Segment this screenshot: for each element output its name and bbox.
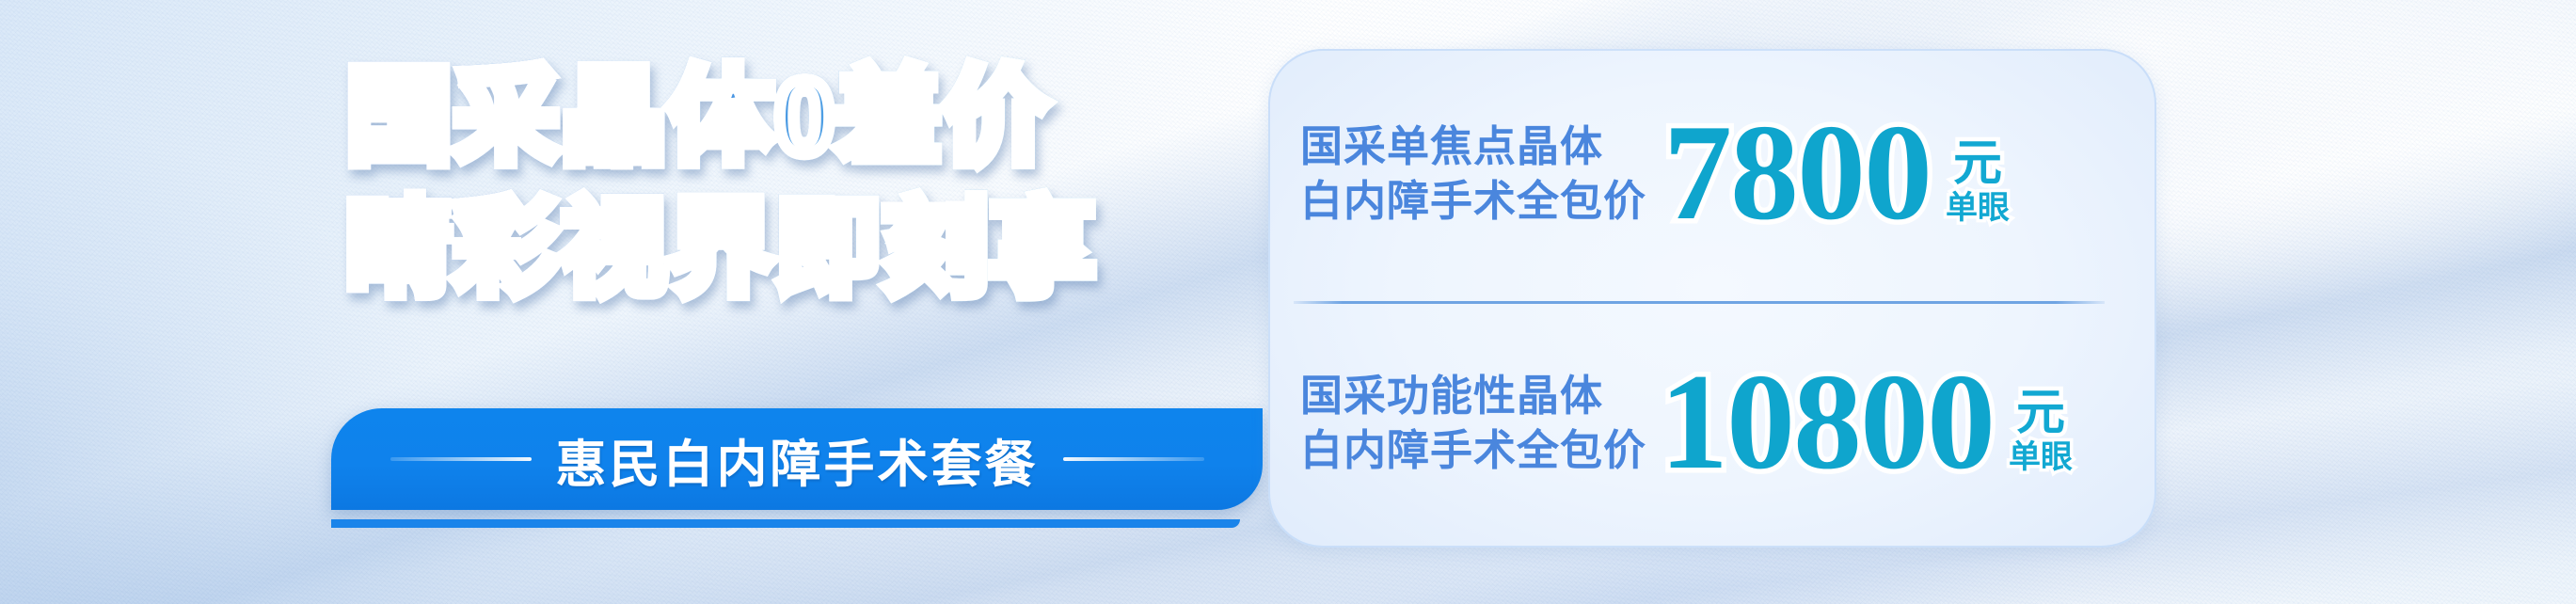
ribbon-underline — [331, 519, 1240, 528]
price-label-line-2: 白内障手术全包价 — [1300, 174, 1646, 229]
promo-banner: 国采晶体0差价 睛彩视界即刻享 惠民白内障手术套餐 国采单焦点晶体 白内障手术全… — [0, 0, 2576, 604]
price-label: 国采功能性晶体 白内障手术全包价 — [1300, 369, 1646, 478]
price-label-line-1: 国采单焦点晶体 — [1300, 119, 1646, 174]
ribbon-rule-left-icon — [390, 457, 532, 461]
ribbon-content: 惠民白内障手术套餐 — [331, 408, 1263, 510]
price-card: 国采单焦点晶体 白内障手术全包价 7800 元 单眼 国采功能性晶体 白内障手术… — [1268, 49, 2156, 548]
price-amount: 7800 — [1663, 103, 1931, 241]
price-unit-currency: 元 — [2016, 386, 2065, 440]
price-unit: 元 单眼 — [2009, 386, 2073, 476]
headline-line-1: 国采晶体0差价 — [346, 55, 1249, 181]
headline-block: 国采晶体0差价 睛彩视界即刻享 — [346, 55, 1249, 312]
price-card-rows: 国采单焦点晶体 白内障手术全包价 7800 元 单眼 国采功能性晶体 白内障手术… — [1268, 49, 2156, 548]
headline-line-2: 睛彩视界即刻享 — [346, 186, 1249, 312]
price-label-line-1: 国采功能性晶体 — [1300, 369, 1646, 423]
ribbon-label: 惠民白内障手术套餐 — [556, 422, 1039, 497]
price-unit-currency: 元 — [1953, 136, 2002, 191]
price-unit-qualifier: 单眼 — [2009, 438, 2073, 476]
price-row: 国采功能性晶体 白内障手术全包价 10800 元 单眼 — [1268, 298, 2156, 548]
price-card-divider — [1294, 301, 2105, 304]
ribbon-banner: 惠民白内障手术套餐 — [331, 408, 1263, 532]
price-row: 国采单焦点晶体 白内障手术全包价 7800 元 单眼 — [1268, 49, 2156, 298]
price-label-line-2: 白内障手术全包价 — [1300, 423, 1646, 478]
price-unit-qualifier: 单眼 — [1946, 189, 2010, 227]
ribbon-rule-right-icon — [1063, 457, 1204, 461]
ribbon-shape: 惠民白内障手术套餐 — [331, 408, 1263, 510]
price-label: 国采单焦点晶体 白内障手术全包价 — [1300, 119, 1650, 229]
price-amount: 10800 — [1660, 353, 1994, 490]
price-unit: 元 单眼 — [1946, 136, 2010, 227]
